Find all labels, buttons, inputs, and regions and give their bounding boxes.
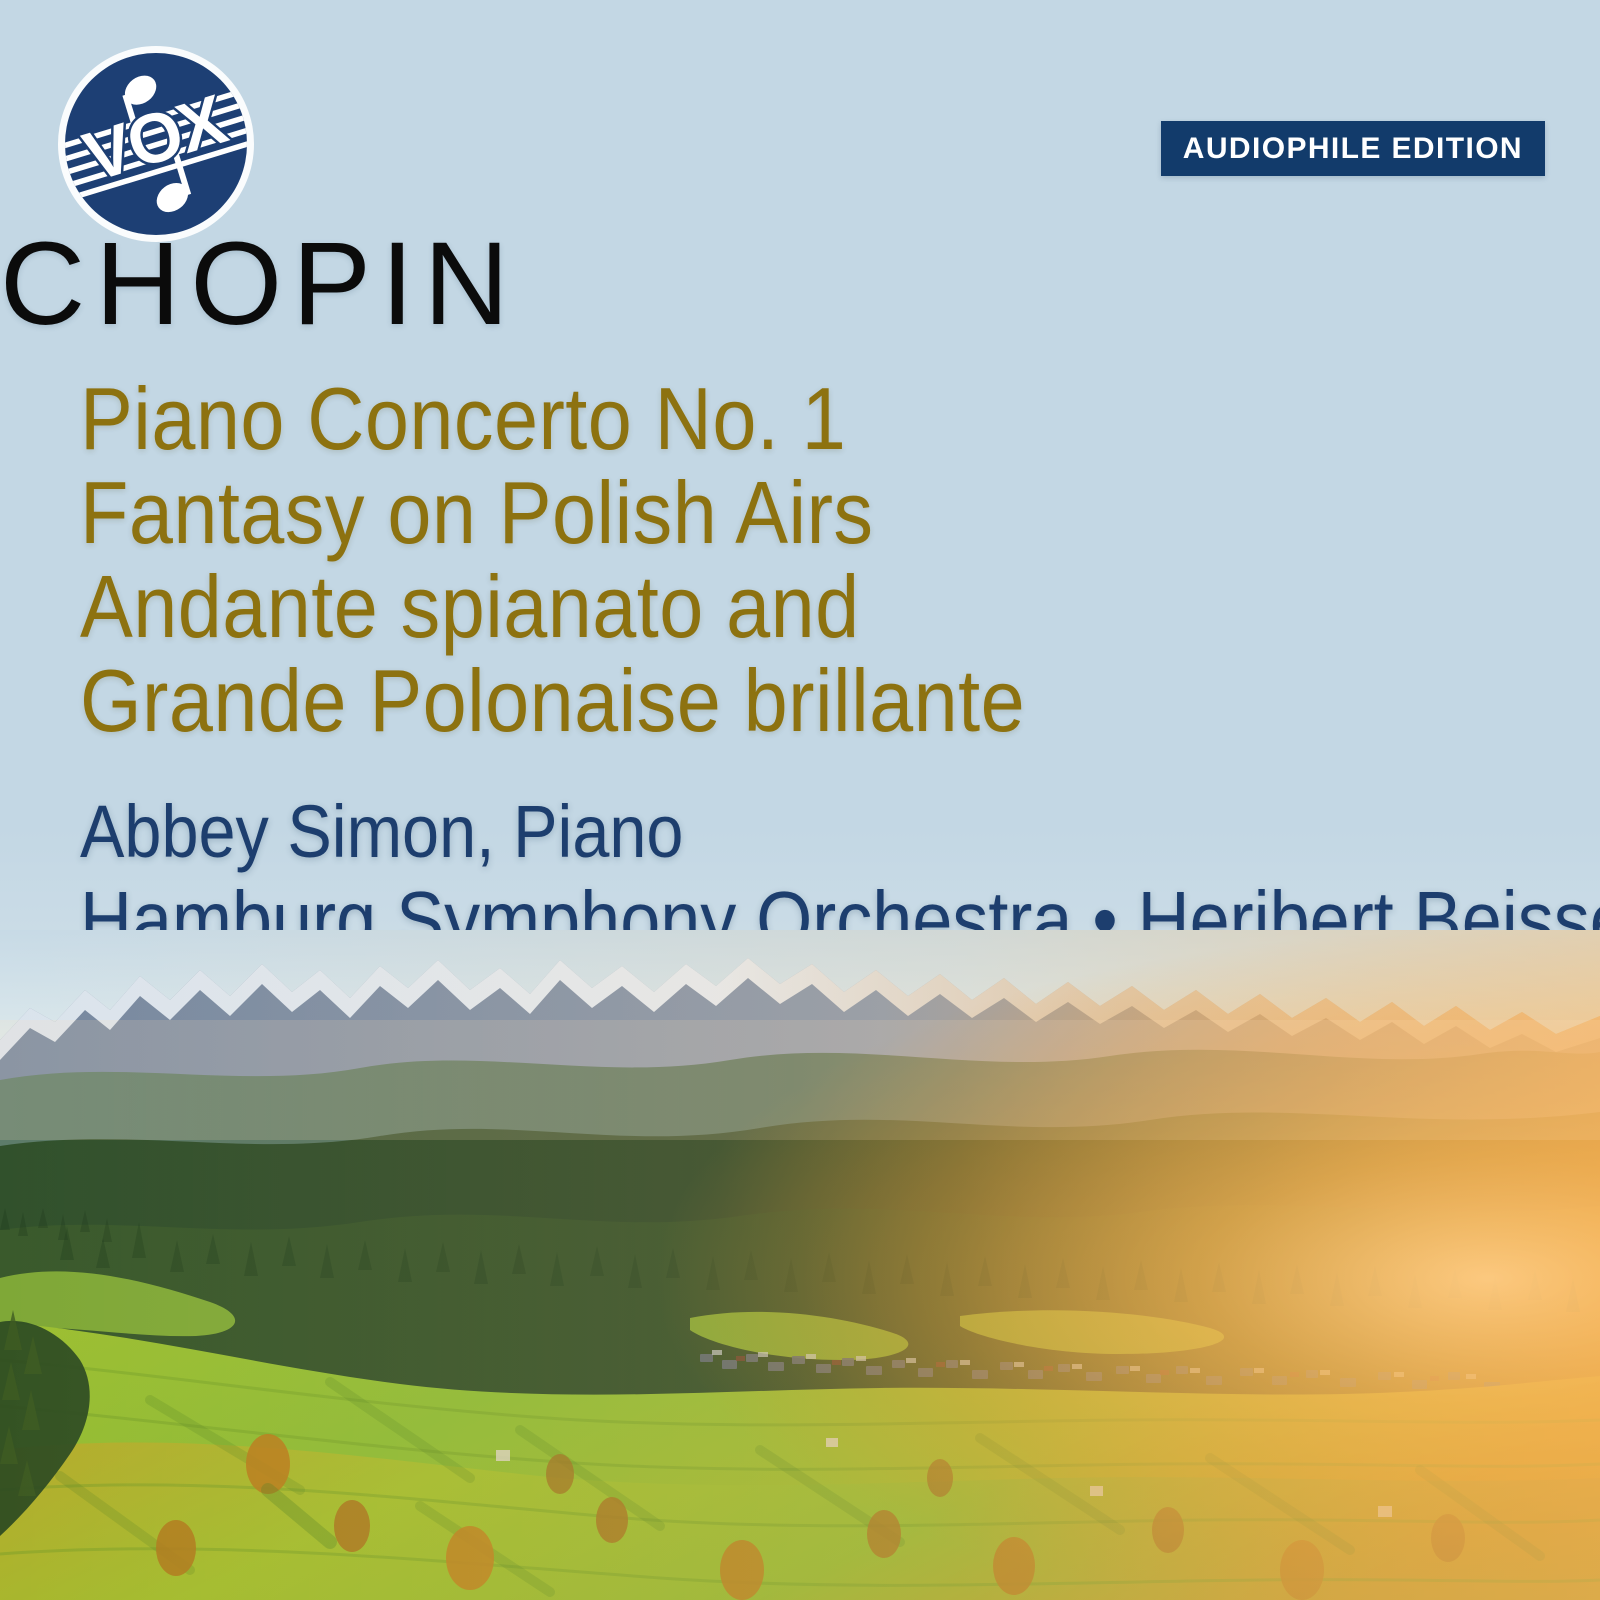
cover-artwork-photo — [0, 930, 1600, 1600]
work-title-line: Fantasy on Polish Airs — [80, 466, 1520, 560]
album-cover: VOX AUDIOPHILE EDITION CHOPIN Piano Conc… — [0, 0, 1600, 1600]
audiophile-edition-badge: AUDIOPHILE EDITION — [1161, 121, 1545, 176]
work-title-line: Grande Polonaise brillante — [80, 654, 1520, 748]
work-title-line: Andante spianato and — [80, 560, 1520, 654]
badge-label: AUDIOPHILE EDITION — [1183, 134, 1523, 164]
vox-logo[interactable]: VOX — [56, 44, 256, 244]
soloist-credit: Abbey Simon, Piano — [80, 790, 1520, 874]
work-titles: Piano Concerto No. 1 Fantasy on Polish A… — [0, 372, 1600, 748]
work-title-line: Piano Concerto No. 1 — [80, 372, 1520, 466]
composer-name: CHOPIN — [0, 225, 1600, 343]
